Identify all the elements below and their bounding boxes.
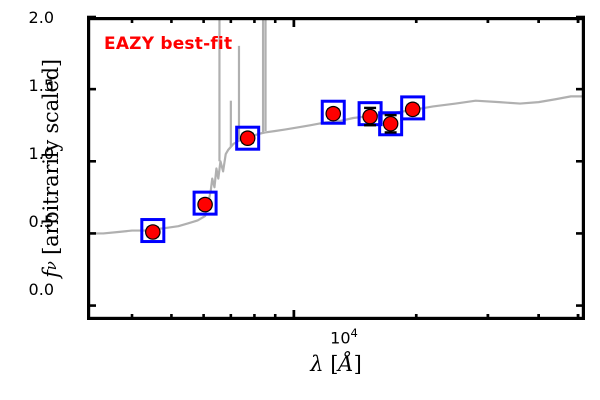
x-axis-label: λ [Å] (87, 352, 585, 376)
y-tick-label-0.5: 0.5 (10, 212, 54, 231)
y-tick-label-1.5: 1.5 (10, 76, 54, 95)
sed-plot-figure (0, 0, 600, 400)
eazy-bestfit-annotation: EAZY best-fit (104, 34, 232, 54)
y-tick-label-1.0: 1.0 (10, 144, 54, 163)
y-axis-label: fν [arbitrarily scaled] (34, 17, 68, 320)
x-tick-label-1e4: 104 (314, 326, 374, 347)
y-tick-label-2.0: 2.0 (10, 8, 54, 27)
y-tick-label-0.0: 0.0 (10, 280, 54, 299)
